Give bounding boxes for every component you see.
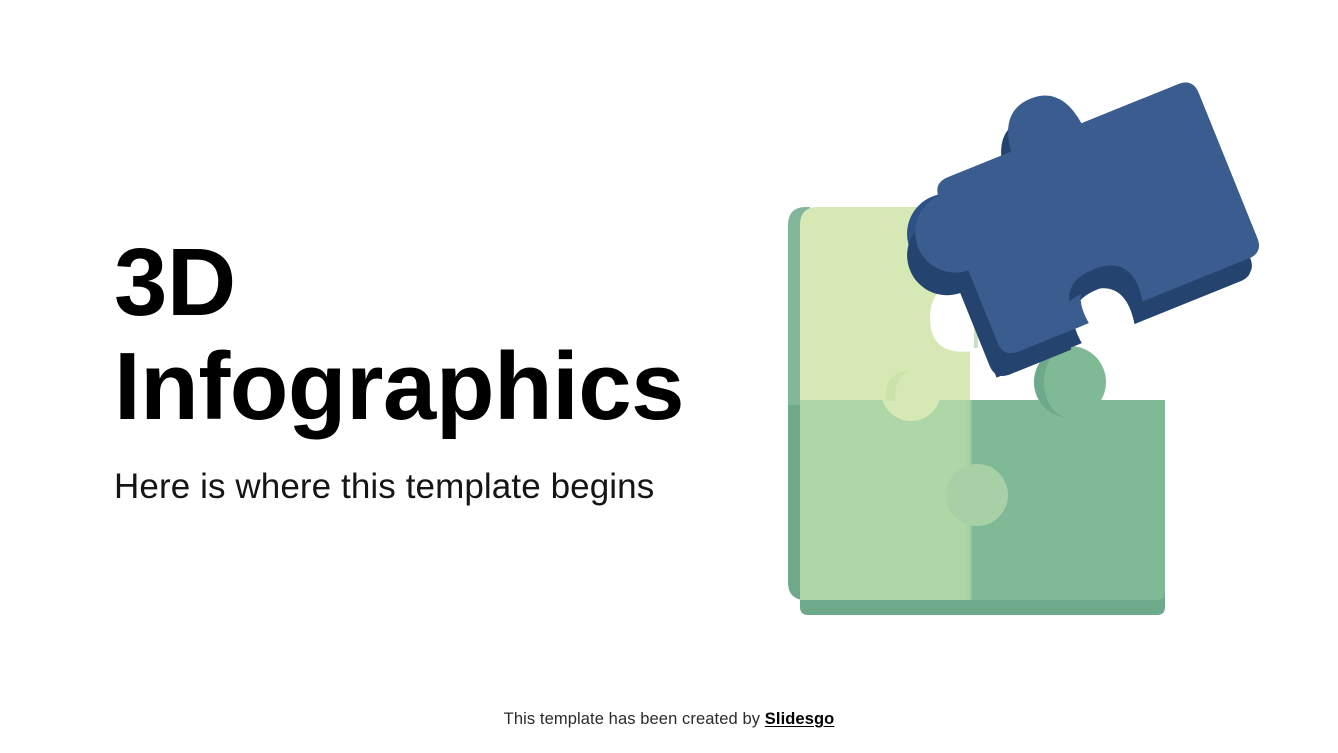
title-block: 3D Infographics Here is where this templ… bbox=[114, 231, 774, 508]
puzzle-svg bbox=[770, 95, 1280, 615]
slidesgo-link[interactable]: Slidesgo bbox=[765, 710, 835, 728]
footer-credit-text: This template has been created by bbox=[504, 710, 765, 728]
page-title: 3D Infographics bbox=[114, 231, 774, 438]
puzzle-pieces-illustration bbox=[770, 95, 1280, 615]
page-subtitle: Here is where this template begins bbox=[114, 438, 774, 508]
footer-credit: This template has been created by Slides… bbox=[0, 710, 1338, 729]
puzzle-piece-bottom-right bbox=[946, 346, 1165, 600]
slide-canvas: 3D Infographics Here is where this templ… bbox=[0, 0, 1338, 753]
